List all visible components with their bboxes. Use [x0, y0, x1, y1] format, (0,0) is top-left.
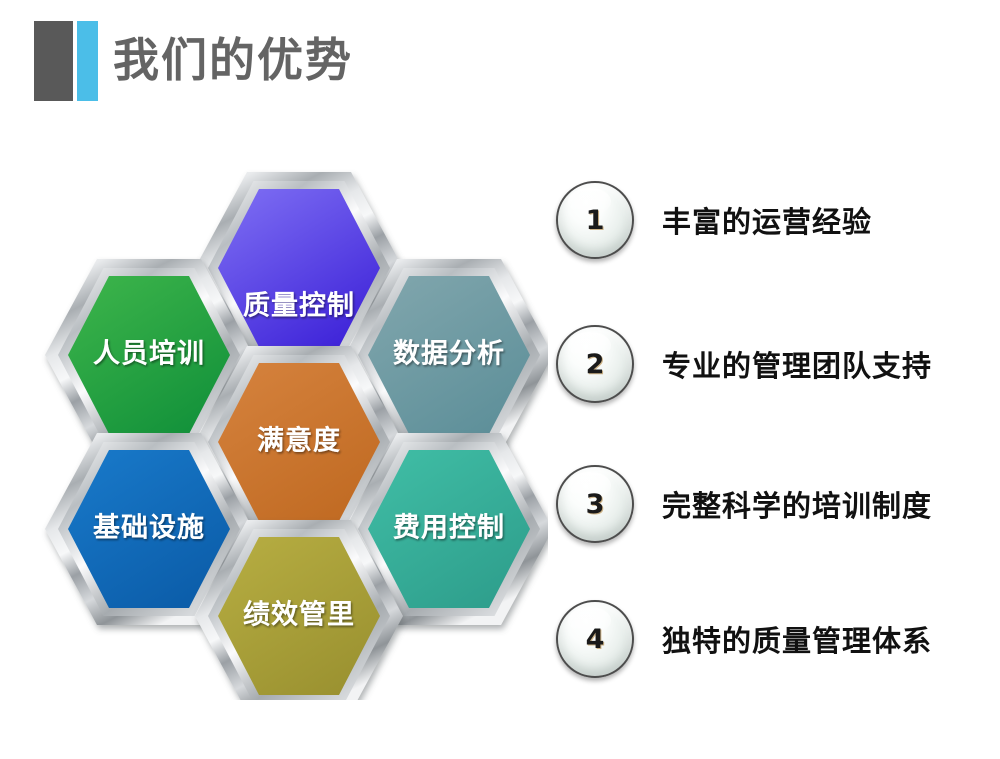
advantage-number-badge: 3	[556, 465, 634, 543]
advantage-label: 独特的质量管理体系	[662, 618, 932, 660]
hexagon-label: 绩效管里	[243, 600, 355, 631]
page-header: 我们的优势	[0, 0, 1000, 130]
advantage-item-2[interactable]: 2 专业的管理团队支持	[556, 324, 996, 404]
advantage-item-1[interactable]: 1 丰富的运营经验	[556, 180, 996, 260]
advantage-label: 专业的管理团队支持	[662, 343, 932, 385]
hexagon-label: 数据分析	[393, 339, 505, 370]
advantage-item-3[interactable]: 3 完整科学的培训制度	[556, 464, 996, 544]
hexagon-label: 人员培训	[93, 339, 205, 370]
advantage-label: 完整科学的培训制度	[662, 483, 932, 525]
hexagon-cluster: 质量控制 人员培训 数据分析 满意度 基础设施	[18, 155, 548, 700]
advantage-number: 2	[586, 349, 605, 380]
advantage-number: 1	[586, 205, 605, 236]
advantage-number-badge: 2	[556, 325, 634, 403]
advantage-number: 3	[586, 489, 605, 520]
hexagon-label: 费用控制	[393, 513, 505, 544]
advantage-number-badge: 1	[556, 181, 634, 259]
advantage-list: 1 丰富的运营经验 2 专业的管理团队支持 3 完整科学的培训制度 4 独特的质…	[556, 172, 996, 692]
advantage-number: 4	[586, 624, 605, 655]
advantage-item-4[interactable]: 4 独特的质量管理体系	[556, 599, 996, 679]
page-title: 我们的优势	[113, 23, 353, 97]
hexagon-label: 满意度	[257, 425, 341, 457]
advantage-label: 丰富的运营经验	[662, 199, 872, 241]
title-accent-bar-dark	[34, 21, 73, 101]
title-accent-bar-cyan	[77, 21, 98, 101]
advantage-number-badge: 4	[556, 600, 634, 678]
hexagon-label: 基础设施	[93, 513, 205, 544]
hexagon-label: 质量控制	[243, 291, 355, 322]
